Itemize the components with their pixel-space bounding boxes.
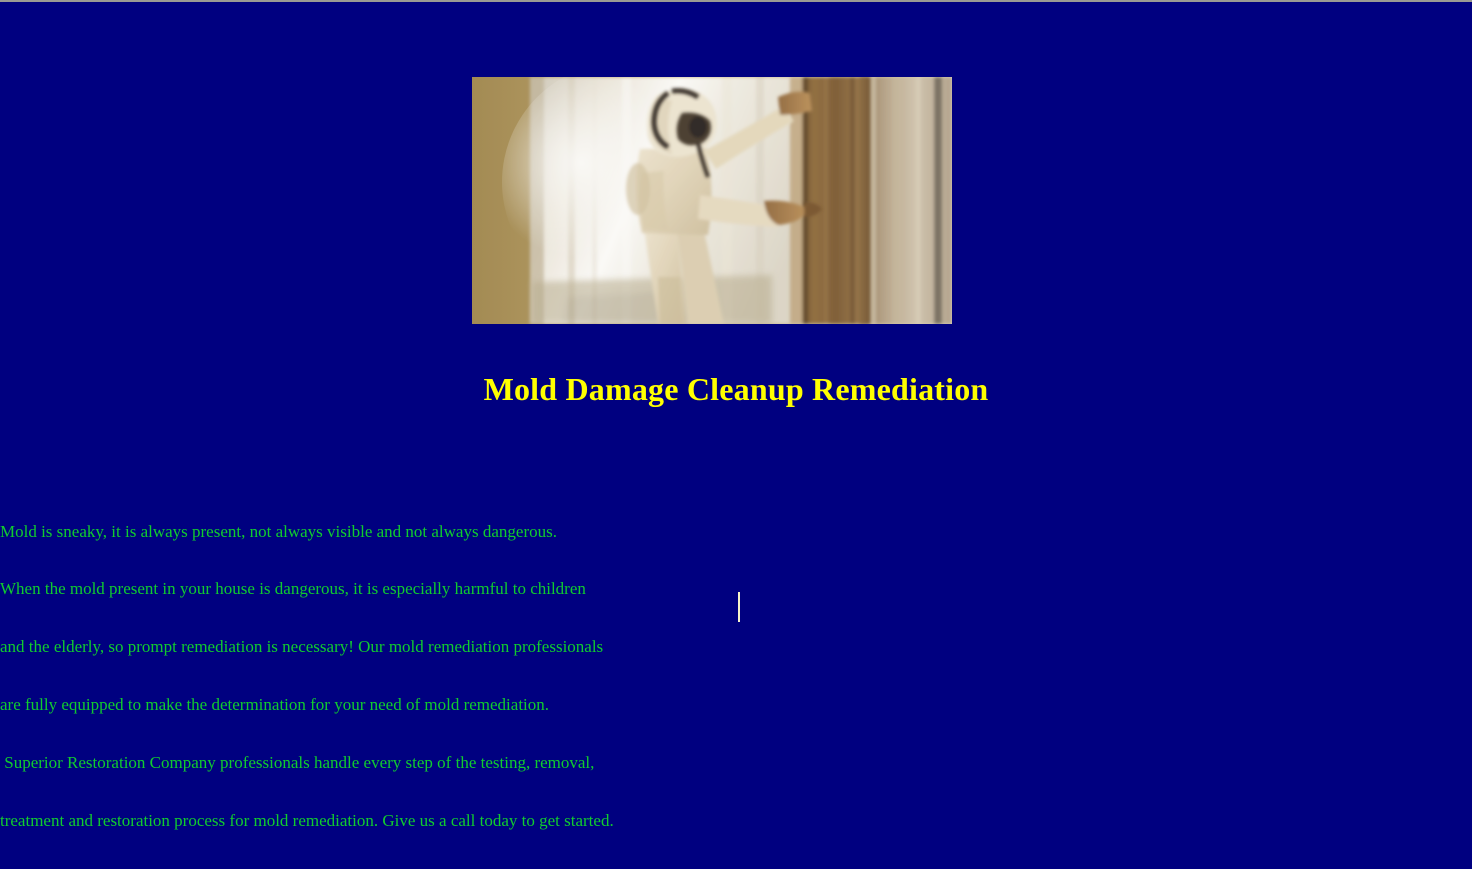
page-title: Mold Damage Cleanup Remediation xyxy=(0,368,1472,410)
body-line-2: When the mold present in your house is d… xyxy=(0,579,700,598)
hero-image-container xyxy=(472,77,952,324)
body-line-6: treatment and restoration process for mo… xyxy=(0,811,700,830)
body-line-3: and the elderly, so prompt remediation i… xyxy=(0,637,700,656)
body-paragraph: Mold is sneaky, it is always present, no… xyxy=(0,483,700,869)
body-line-5: Superior Restoration Company professiona… xyxy=(0,753,700,772)
text-cursor-caret[interactable] xyxy=(738,592,740,622)
mold-remediation-worker-photo xyxy=(472,77,952,324)
body-line-1: Mold is sneaky, it is always present, no… xyxy=(0,522,700,541)
page-body: Mold Damage Cleanup Remediation Mold is … xyxy=(0,2,1472,620)
body-line-4: are fully equipped to make the determina… xyxy=(0,695,700,714)
